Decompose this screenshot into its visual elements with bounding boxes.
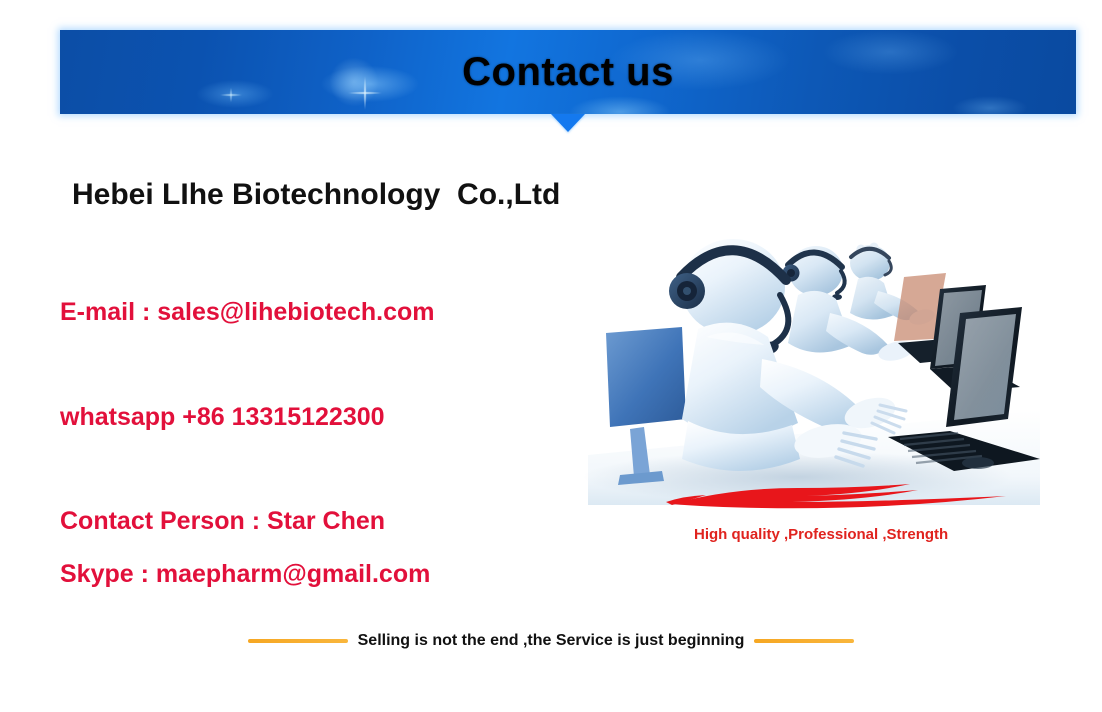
contact-banner: Contact us <box>60 30 1076 114</box>
page-title: Contact us <box>60 30 1076 114</box>
tagline-text: Selling is not the end ,the Service is j… <box>358 632 745 650</box>
banner-background: Contact us <box>60 30 1076 114</box>
tagline-rule-right <box>754 639 854 643</box>
call-center-photo <box>548 205 1040 505</box>
banner-arrow-notch-icon <box>551 114 585 132</box>
red-brush-underline-icon <box>660 478 1030 512</box>
photo-caption: High quality ,Professional ,Strength <box>694 526 948 543</box>
tagline-rule-left <box>248 639 348 643</box>
contact-email[interactable]: E-mail : sales@lihebiotech.com <box>60 298 435 327</box>
contact-skype[interactable]: Skype : maepharm@gmail.com <box>60 560 430 589</box>
call-center-illustration <box>548 205 1040 505</box>
contact-person: Contact Person : Star Chen <box>60 507 385 536</box>
company-name: Hebei LIhe Biotechnology Co.,Ltd <box>72 178 560 212</box>
footer-tagline: Selling is not the end ,the Service is j… <box>0 632 1102 650</box>
contact-whatsapp[interactable]: whatsapp +86 13315122300 <box>60 403 385 432</box>
